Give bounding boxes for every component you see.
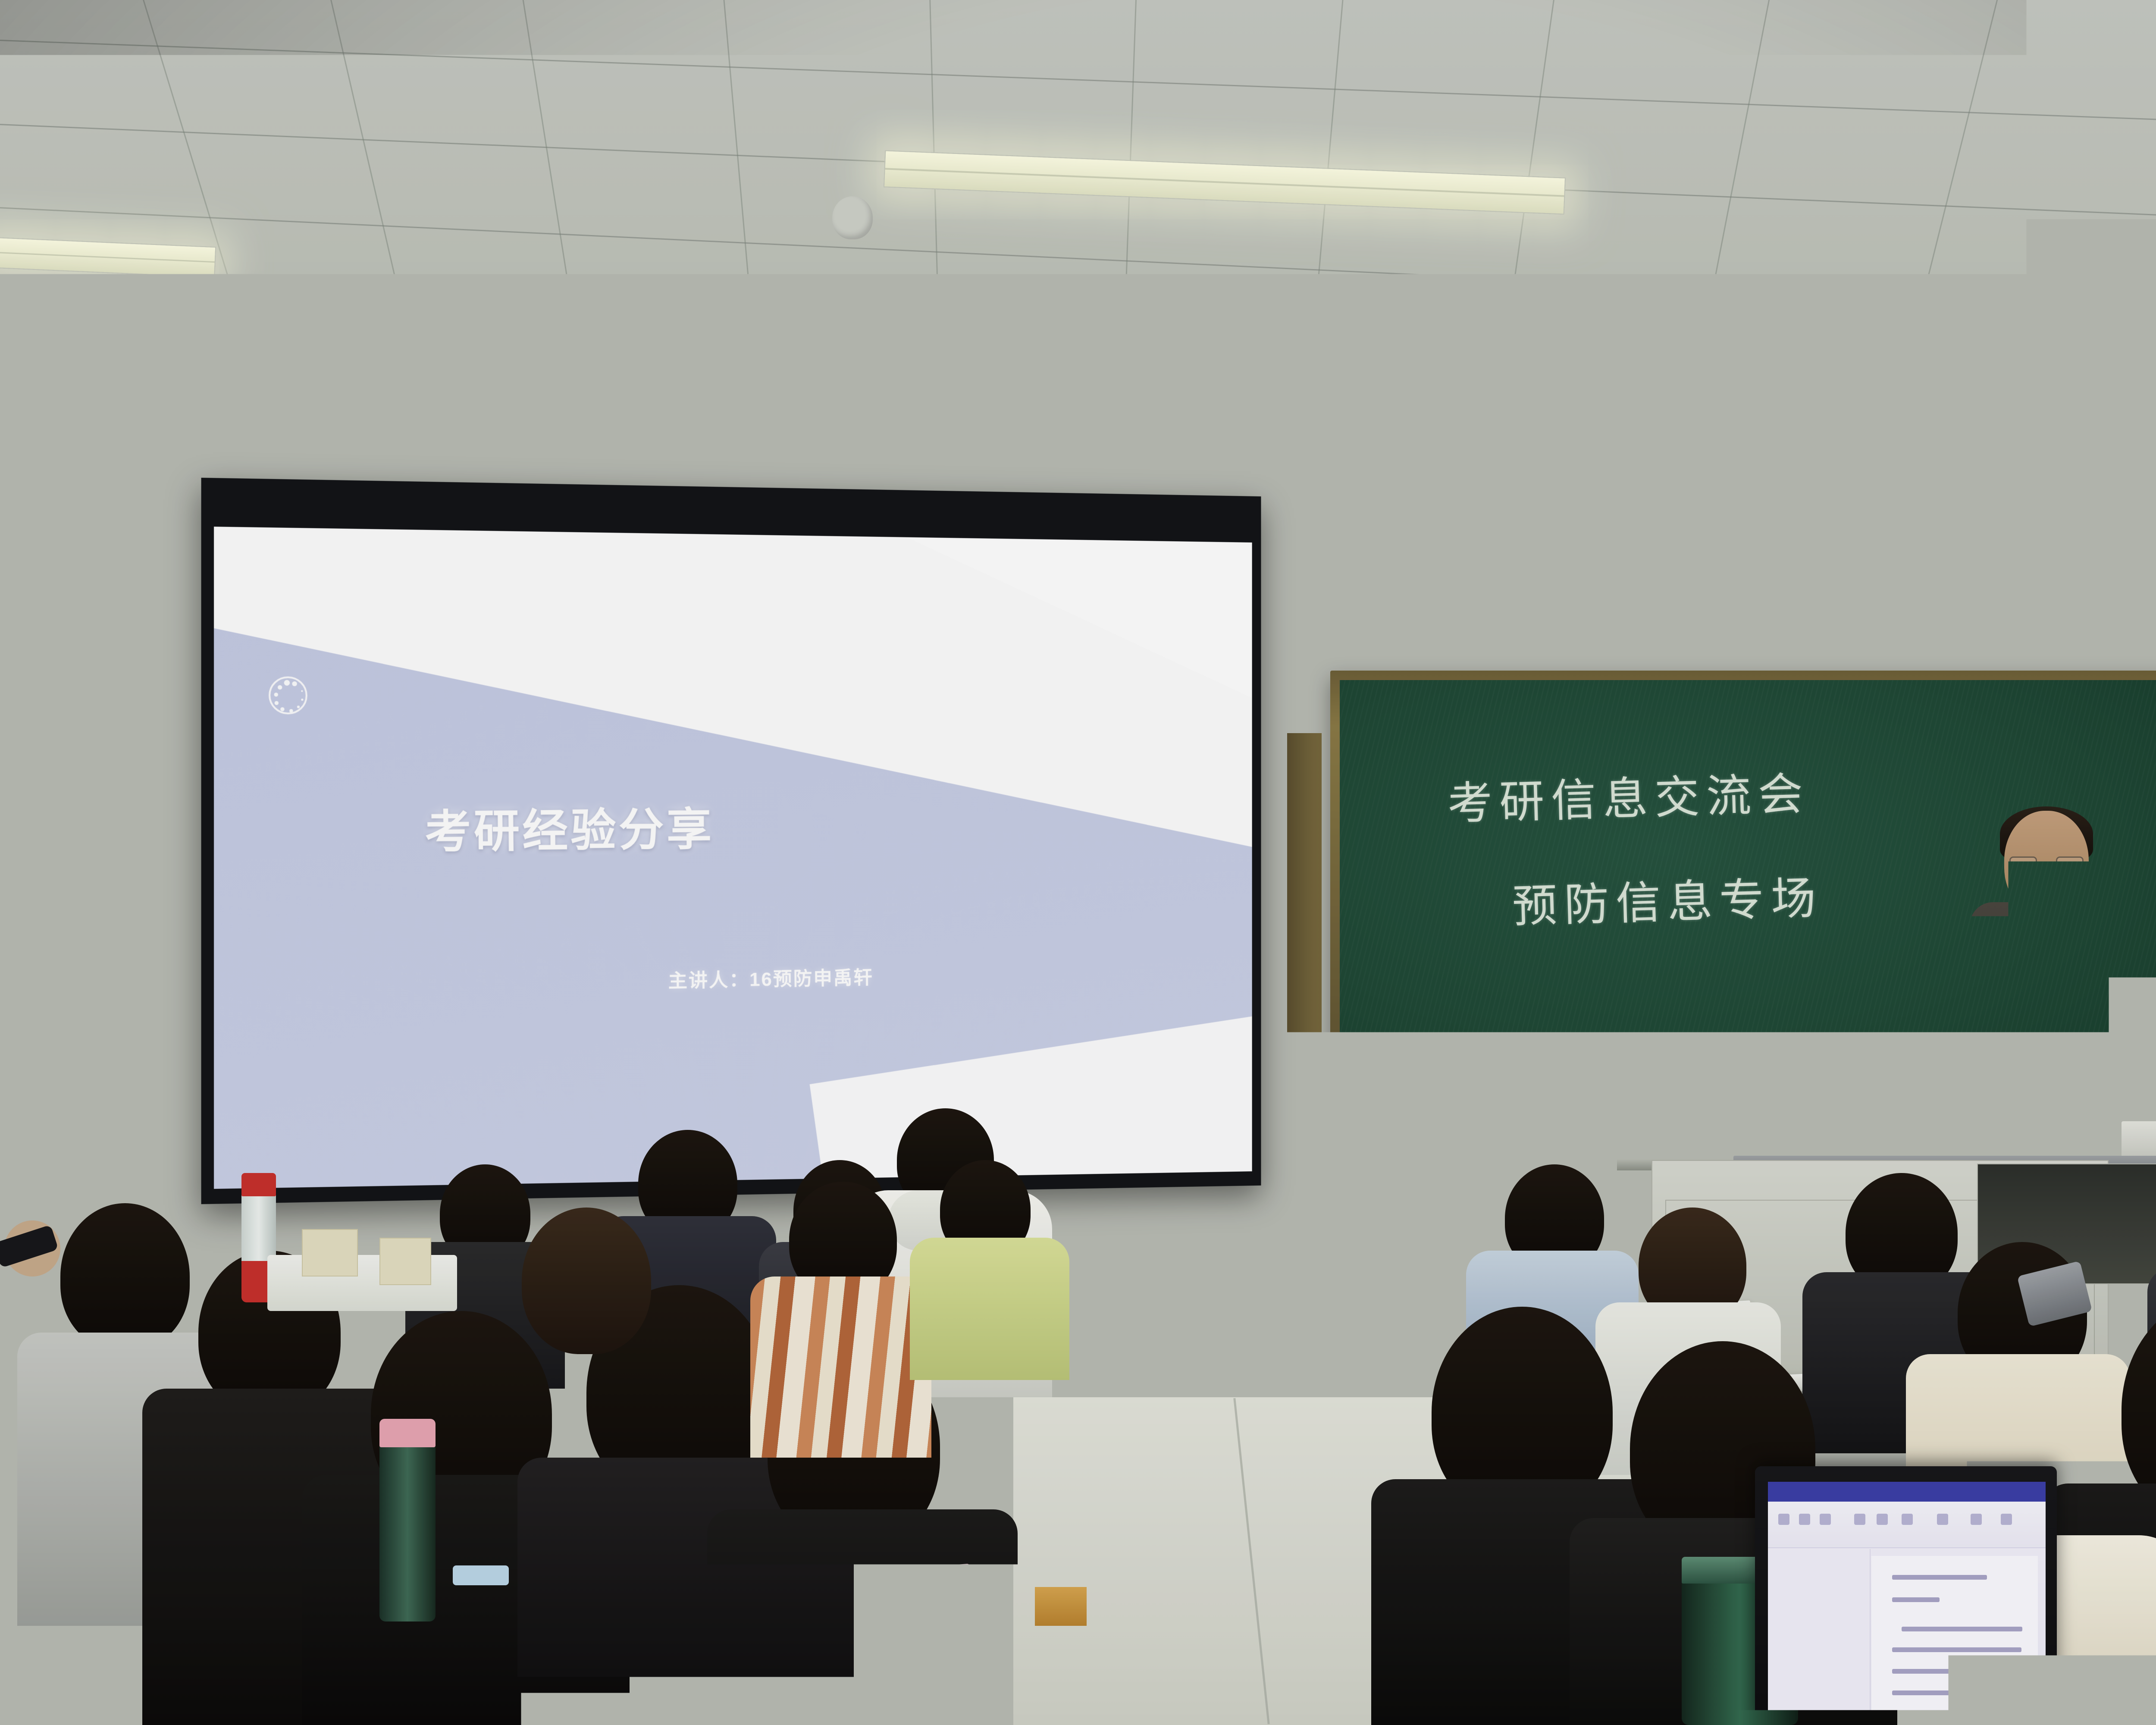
laptop-sidebar: [1768, 1549, 1871, 1725]
blackboard-side-panel: [1287, 733, 1322, 1113]
wristband: [2026, 989, 2042, 999]
suspended-ceiling: [0, 0, 2156, 496]
student-striped-sweater: [750, 1276, 931, 1458]
lightning-bolt-icon: ⚡: [53, 885, 70, 913]
electrical-hazard-sign: ⚡ 有电危险 请勿触碰: [51, 883, 111, 915]
glasses-icon: [2009, 856, 2084, 871]
blackboard-line-1: 考研信息交流会: [1447, 757, 1811, 832]
circular-dots-logo-icon: [269, 676, 307, 715]
classroom-scene-photo: ⚡ 有电危险 请勿触碰: [0, 0, 2156, 1725]
hazard-line-1: 有电危险: [76, 891, 103, 899]
paper-sheet: [379, 1238, 431, 1285]
student-head: [522, 1207, 651, 1354]
smoke-detector-icon: [832, 196, 873, 239]
chalk-piece[interactable]: [1419, 1126, 1437, 1132]
ceiling-camera-icon: [1354, 341, 1377, 358]
slide-surface: 考研经验分享 主讲人：16预防申禹轩: [214, 527, 1252, 1189]
projection-screen: 考研经验分享 主讲人：16预防申禹轩: [201, 478, 1261, 1204]
laptop-screen: [1768, 1482, 2046, 1725]
slide-title: 考研经验分享: [425, 793, 714, 861]
laptop-toolbar: [1768, 1502, 2046, 1548]
laptop-titlebar: [1768, 1482, 2046, 1502]
slide-subtitle: 主讲人：16预防申禹轩: [668, 962, 874, 993]
tissue-pack[interactable]: [453, 1565, 509, 1585]
ceiling-light-fixture: [884, 150, 1566, 214]
notebook[interactable]: [1035, 1587, 1087, 1626]
thermos-bottle[interactable]: [379, 1419, 436, 1621]
paper-sheet: [302, 1229, 358, 1276]
ceiling-light-fixture: [1082, 374, 1644, 439]
blackboard-line-2: 预防信息专场: [1511, 861, 1824, 935]
wall-outlet[interactable]: [1112, 1226, 1130, 1254]
open-laptop[interactable]: [1755, 1466, 2057, 1725]
hazard-line-2: 请勿触碰: [76, 899, 103, 907]
wall-frame: [73, 1160, 220, 1285]
wall-outlet[interactable]: [1324, 1228, 1341, 1257]
presenter: [1953, 811, 2152, 1130]
laptop-document: [1871, 1556, 2038, 1725]
computer-mouse-icon[interactable]: [1684, 1121, 1708, 1136]
ceiling-light-fixture: [0, 236, 216, 278]
